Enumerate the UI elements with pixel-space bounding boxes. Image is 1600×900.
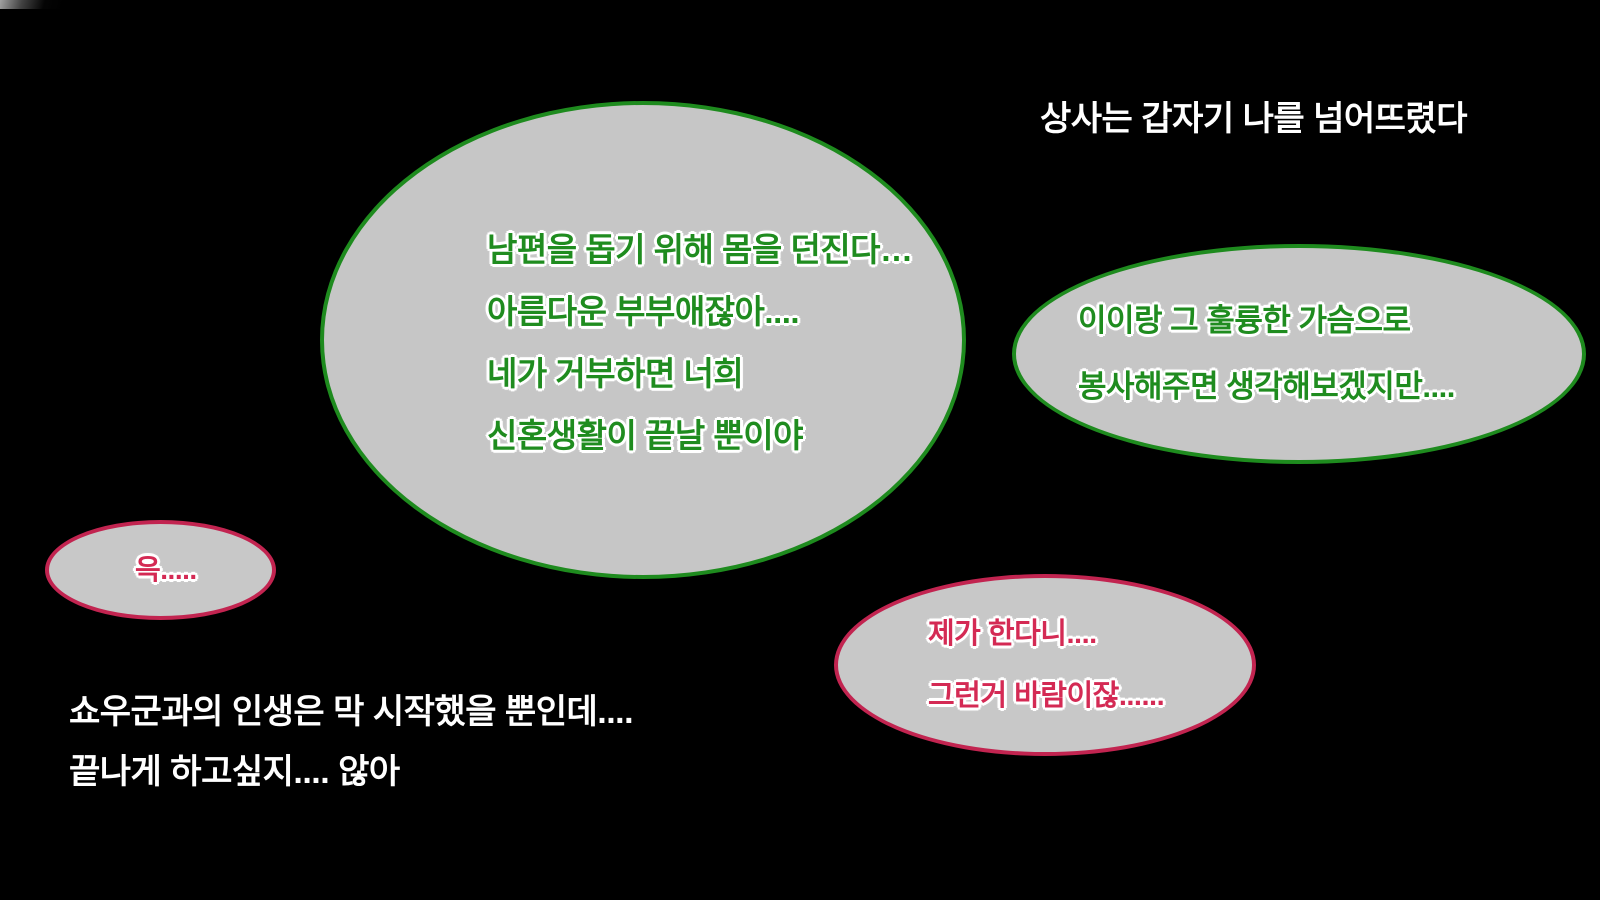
bubble-line: 봉사해주면 생각해보겠지만.... [1078,354,1582,420]
corner-artifact [0,0,62,9]
bubble-line: 아름다운 부부애잖아.... [487,281,962,343]
bubble-line: 제가 한다니.... [928,603,1252,665]
caption-line: 상사는 갑자기 나를 넘어뜨렸다 [1040,96,1467,142]
caption-line: 쇼우군과의 인생은 막 시작했을 뿐인데.... [69,682,633,742]
bubble-line: 이이랑 그 훌륭한 가슴으로 [1078,288,1582,354]
speech-bubble-main-green-text: 남편을 돕기 위해 몸을 던진다… 아름다운 부부애잖아.... 네가 거부하면… [324,219,962,467]
bubble-line: 네가 거부하면 너희 [487,343,962,405]
bubble-line: 그런거 바람이잖...... [928,665,1252,727]
caption-bottom-left: 쇼우군과의 인생은 막 시작했을 뿐인데.... 끝나게 하고싶지.... 않아 [69,682,633,802]
speech-bubble-main-green: 남편을 돕기 위해 몸을 던진다… 아름다운 부부애잖아.... 네가 거부하면… [320,101,966,579]
scene-canvas: 남편을 돕기 위해 몸을 던진다… 아름다운 부부애잖아.... 네가 거부하면… [0,0,1600,900]
speech-bubble-small-pink-text: 윽..... [49,553,272,587]
speech-bubble-main-pink: 제가 한다니.... 그런거 바람이잖...... [834,574,1256,756]
bubble-line: 신혼생활이 끝날 뿐이야 [487,405,962,467]
caption-top-right: 상사는 갑자기 나를 넘어뜨렸다 [1040,96,1467,142]
speech-bubble-right-green-text: 이이랑 그 훌륭한 가슴으로 봉사해주면 생각해보겠지만.... [1016,288,1582,420]
speech-bubble-small-pink: 윽..... [45,520,276,620]
bubble-line: 윽..... [135,553,272,587]
caption-line: 끝나게 하고싶지.... 않아 [69,742,633,802]
bubble-line: 남편을 돕기 위해 몸을 던진다… [487,219,962,281]
speech-bubble-main-pink-text: 제가 한다니.... 그런거 바람이잖...... [838,603,1252,727]
speech-bubble-right-green: 이이랑 그 훌륭한 가슴으로 봉사해주면 생각해보겠지만.... [1012,244,1586,464]
